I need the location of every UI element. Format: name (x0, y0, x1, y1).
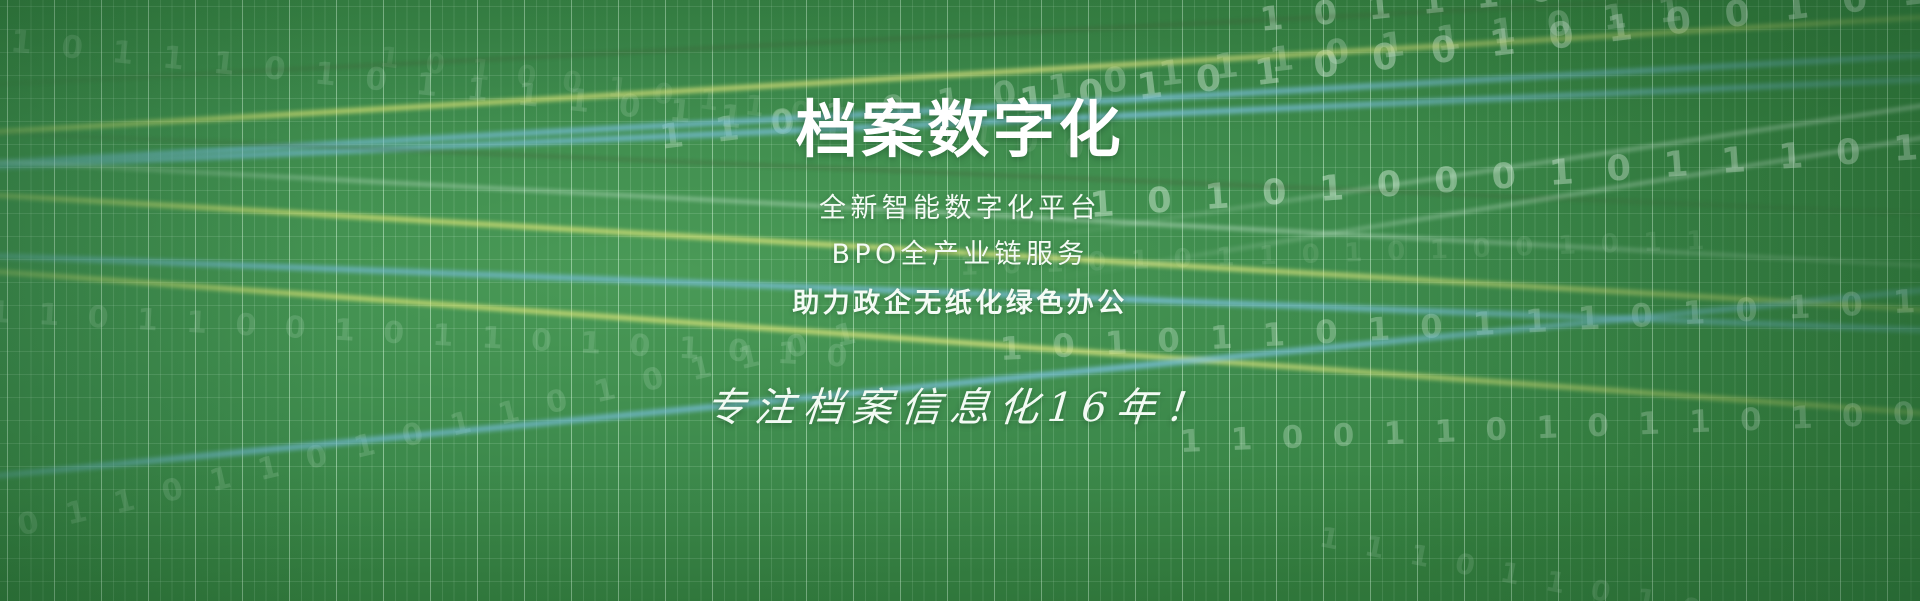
banner-subline-2: BPO全产业链服务 (0, 232, 1920, 271)
banner-tagline: 专注档案信息化16年！ (0, 375, 1920, 433)
hero-banner: 1 1 0 1 1 1 0 1 0 1 1 1 1 0 1 1 0 1 1 1 … (0, 0, 1920, 601)
banner-headline: 档案数字化 (0, 96, 1920, 164)
banner-content: 档案数字化 全新智能数字化平台 BPO全产业链服务 助力政企无纸化绿色办公 专注… (0, 0, 1920, 601)
banner-subline-1: 全新智能数字化平台 (0, 186, 1920, 225)
banner-subline-3: 助力政企无纸化绿色办公 (0, 281, 1920, 320)
